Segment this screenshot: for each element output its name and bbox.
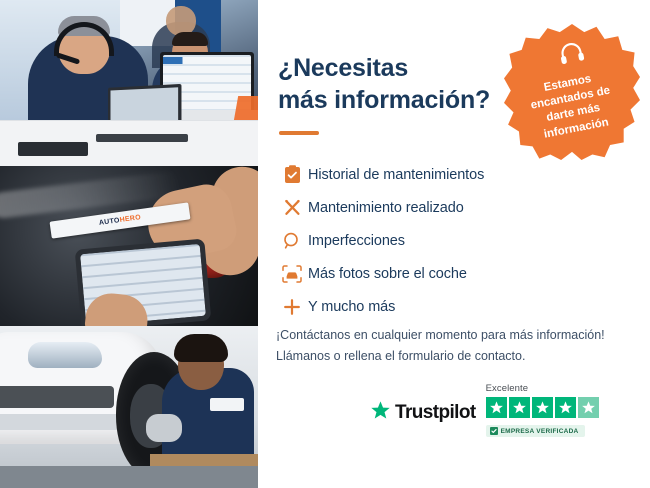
trustpilot-wordmark: Trustpilot bbox=[395, 402, 476, 424]
vehicle-inspection-photo: AUTOHERO bbox=[0, 166, 258, 326]
rating-star-2 bbox=[509, 397, 530, 418]
feature-label: Y mucho más bbox=[308, 299, 395, 315]
trustpilot-star-icon bbox=[370, 400, 391, 426]
contact-line-2: Llámanos o rellena el formulario de cont… bbox=[276, 349, 525, 363]
content-panel: ¿Necesitas más información? Estamos enca… bbox=[258, 0, 650, 488]
feature-item-maintenance-history: Historial de mantenimientos bbox=[276, 158, 616, 191]
plus-icon bbox=[276, 298, 308, 316]
tools-cross-icon bbox=[276, 198, 308, 217]
photo-ruler-brand: AUTOHERO bbox=[99, 214, 142, 227]
feature-list: Historial de mantenimientos Mantenimient… bbox=[276, 158, 616, 323]
page-title-line-2: más información? bbox=[278, 86, 490, 114]
support-badge: Estamos encantados de darte más informac… bbox=[504, 24, 640, 160]
rating-label: Excelente bbox=[486, 383, 599, 394]
check-badge-icon bbox=[490, 427, 498, 435]
rating-star-1 bbox=[486, 397, 507, 418]
rating-star-3 bbox=[532, 397, 553, 418]
call-center-agents-photo bbox=[0, 0, 258, 166]
feature-label: Imperfecciones bbox=[308, 233, 405, 249]
feature-label: Historial de mantenimientos bbox=[308, 167, 484, 183]
photo-bumper bbox=[0, 414, 134, 430]
promo-card: AUTOHERO ¿Necesitas bbox=[0, 0, 650, 488]
feature-label: Mantenimiento realizado bbox=[308, 200, 464, 216]
photo-car-lift bbox=[0, 466, 258, 488]
page-title-line-1: ¿Necesitas bbox=[278, 54, 408, 82]
photo-grille bbox=[0, 386, 114, 408]
verified-label: EMPRESA VERIFICADA bbox=[501, 428, 579, 435]
photo-mechanic-logo bbox=[210, 398, 244, 411]
contact-paragraph: ¡Contáctanos en cualquier momento para m… bbox=[276, 325, 636, 366]
photo-headlamp bbox=[28, 342, 102, 368]
headset-icon bbox=[557, 40, 588, 71]
trustpilot-rating: Excelente bbox=[486, 383, 599, 437]
star-rating bbox=[486, 397, 599, 418]
magnifier-icon bbox=[276, 232, 308, 250]
feature-item-imperfections: Imperfecciones bbox=[276, 224, 616, 257]
rating-star-4 bbox=[555, 397, 576, 418]
feature-item-more-photos: Más fotos sobre el coche bbox=[276, 257, 616, 290]
photo-workbench bbox=[150, 454, 258, 466]
title-underline-accent bbox=[279, 131, 319, 135]
trustpilot-brand: Trustpilot bbox=[370, 400, 476, 437]
feature-item-much-more: Y mucho más bbox=[276, 290, 616, 323]
trustpilot-widget[interactable]: Trustpilot Excelente bbox=[370, 383, 635, 437]
photo-mechanic-glove bbox=[146, 414, 182, 442]
car-scan-frame-icon bbox=[276, 265, 308, 283]
photo-mechanic-hair bbox=[174, 334, 228, 362]
photo-collage: AUTOHERO bbox=[0, 0, 258, 488]
verified-business-badge: EMPRESA VERIFICADA bbox=[486, 425, 585, 437]
photo-keyboard bbox=[18, 142, 88, 156]
rating-star-5 bbox=[578, 397, 599, 418]
clipboard-check-icon bbox=[276, 165, 308, 184]
contact-line-1: ¡Contáctanos en cualquier momento para m… bbox=[276, 328, 605, 342]
photo-laptop-base bbox=[96, 134, 188, 142]
feature-label: Más fotos sobre el coche bbox=[308, 266, 467, 282]
workshop-mechanic-photo bbox=[0, 326, 258, 488]
photo-agent-second-hair bbox=[172, 32, 208, 46]
page-title: ¿Necesitas más información? bbox=[278, 52, 528, 116]
feature-item-maintenance-done: Mantenimiento realizado bbox=[276, 191, 616, 224]
